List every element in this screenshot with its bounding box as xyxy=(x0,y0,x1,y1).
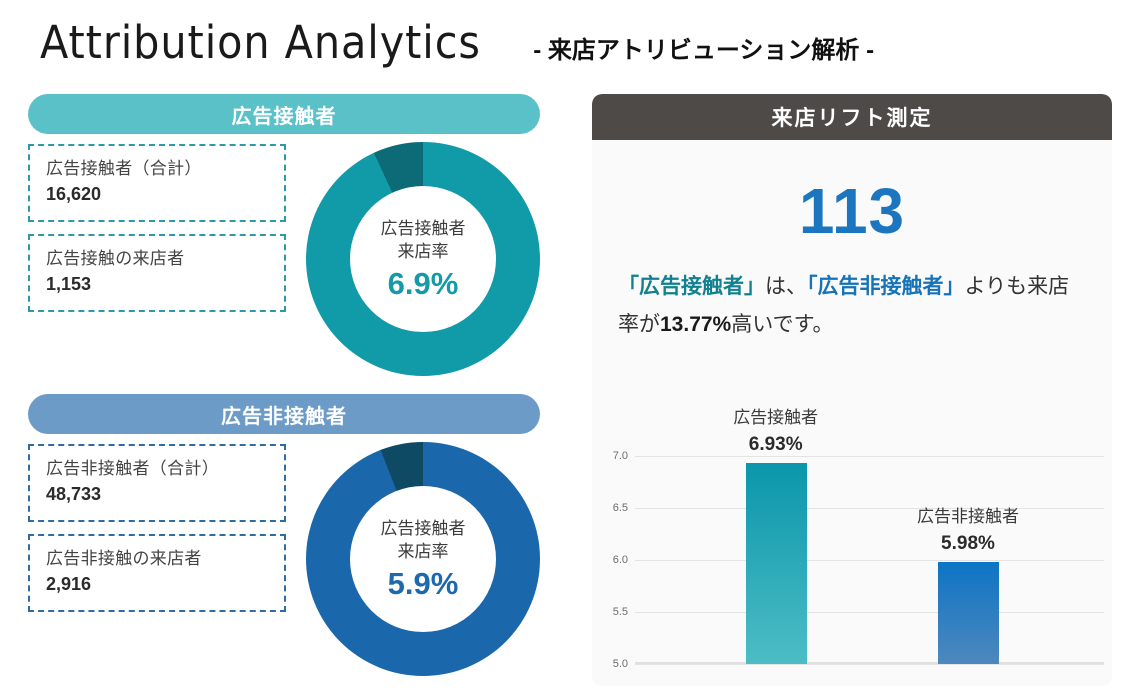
chart-y-tick-label: 7.0 xyxy=(613,450,628,462)
lift-index-value: 113 xyxy=(592,178,1112,244)
chart-gridline: 5.5 xyxy=(635,612,1104,613)
chart-bar xyxy=(746,463,807,664)
chart-plot-area: 5.05.56.06.57.0広告接触者6.93%広告非接触者5.98% xyxy=(635,456,1104,664)
exposed-panel: 広告接触者 広告接触者（合計） 16,620 広告接触の来店者 1,153 広告… xyxy=(28,94,540,134)
stat-label: 広告接触者（合計） xyxy=(46,157,284,181)
donut-percent-value: 5.9% xyxy=(388,567,459,601)
sentence-quote-open-1: 「 xyxy=(618,275,639,298)
donut-center-label: 広告接触者 来店率 5.9% xyxy=(350,486,496,632)
chart-bar-annotation: 広告接触者6.93% xyxy=(681,405,871,458)
stat-value: 16,620 xyxy=(46,182,284,206)
sentence-keyword-unexposed: 広告非接触者 xyxy=(818,275,944,298)
lift-card-header-label: 来店リフト測定 xyxy=(772,102,933,132)
lift-card-header: 来店リフト測定 xyxy=(592,94,1112,140)
exposed-donut-chart: 広告接触者 来店率 6.9% xyxy=(306,142,540,376)
page-title-subtitle: - 来店アトリビューション解析 - xyxy=(533,30,874,65)
sentence-quote-close-1: 」 xyxy=(744,275,765,298)
chart-bar xyxy=(938,562,999,664)
chart-bar-value-label: 5.98% xyxy=(873,530,1063,557)
unexposed-panel-header: 広告非接触者 xyxy=(28,394,540,434)
donut-ring: 広告接触者 来店率 5.9% xyxy=(306,442,540,676)
donut-percent-value: 6.9% xyxy=(388,267,459,301)
stat-label: 広告非接触者（合計） xyxy=(46,457,284,481)
chart-bar-category-label: 広告非接触者 xyxy=(873,504,1063,530)
chart-bar-value-label: 6.93% xyxy=(681,431,871,458)
sentence-tail-post: 高いです。 xyxy=(731,313,833,336)
stat-value: 1,153 xyxy=(46,272,284,296)
exposed-panel-header-label: 広告接触者 xyxy=(232,100,337,129)
stat-box-unexposed-visitors: 広告非接触の来店者 2,916 xyxy=(28,534,286,612)
stat-value: 48,733 xyxy=(46,482,284,506)
unexposed-panel: 広告非接触者 広告非接触者（合計） 48,733 広告非接触の来店者 2,916… xyxy=(28,394,540,434)
sentence-mid-2: より xyxy=(965,275,1007,298)
chart-gridline: 5.0 xyxy=(635,664,1104,665)
stat-value: 2,916 xyxy=(46,572,284,596)
donut-caption-line2: 来店率 xyxy=(398,240,449,263)
chart-y-tick-label: 6.5 xyxy=(613,502,628,514)
chart-bar-annotation: 広告非接触者5.98% xyxy=(873,504,1063,557)
lift-summary-sentence: 「広告接触者」は、「広告非接触者」よりも来店率が13.77%高いです。 xyxy=(618,268,1086,344)
stat-box-unexposed-total: 広告非接触者（合計） 48,733 xyxy=(28,444,286,522)
unexposed-donut-chart: 広告接触者 来店率 5.9% xyxy=(306,442,540,676)
chart-y-tick-label: 5.5 xyxy=(613,606,628,618)
page-title-main: Attribution Analytics xyxy=(40,16,481,69)
page-title: Attribution Analytics - 来店アトリビューション解析 - xyxy=(40,16,874,69)
sentence-keyword-exposed: 広告接触者 xyxy=(639,275,744,298)
donut-caption-line1: 広告接触者 xyxy=(381,217,466,240)
donut-center-label: 広告接触者 来店率 6.9% xyxy=(350,186,496,332)
exposed-stat-list: 広告接触者（合計） 16,620 広告接触の来店者 1,153 xyxy=(28,144,286,324)
stat-box-exposed-visitors: 広告接触の来店者 1,153 xyxy=(28,234,286,312)
chart-y-tick-label: 5.0 xyxy=(613,658,628,670)
chart-gridline: 6.0 xyxy=(635,560,1104,561)
stat-label: 広告接触の来店者 xyxy=(46,247,284,271)
sentence-lift-percent: 13.77% xyxy=(660,313,731,336)
donut-caption-line1: 広告接触者 xyxy=(381,517,466,540)
sentence-quote-open-2: 「 xyxy=(807,275,818,298)
exposed-panel-header: 広告接触者 xyxy=(28,94,540,134)
donut-ring: 広告接触者 来店率 6.9% xyxy=(306,142,540,376)
chart-bar-category-label: 広告接触者 xyxy=(681,405,871,431)
visit-rate-bar-chart: 5.05.56.06.57.0広告接触者6.93%広告非接触者5.98% xyxy=(592,450,1112,686)
unexposed-panel-header-label: 広告非接触者 xyxy=(221,400,347,429)
lift-measurement-card: 来店リフト測定 113 「広告接触者」は、「広告非接触者」よりも来店率が13.7… xyxy=(592,94,1112,686)
stat-box-exposed-total: 広告接触者（合計） 16,620 xyxy=(28,144,286,222)
sentence-mid-1: は、 xyxy=(765,275,807,298)
donut-caption-line2: 来店率 xyxy=(398,540,449,563)
stat-label: 広告非接触の来店者 xyxy=(46,547,284,571)
chart-y-tick-label: 6.0 xyxy=(613,554,628,566)
unexposed-stat-list: 広告非接触者（合計） 48,733 広告非接触の来店者 2,916 xyxy=(28,444,286,624)
sentence-quote-close-2: 」 xyxy=(944,275,965,298)
